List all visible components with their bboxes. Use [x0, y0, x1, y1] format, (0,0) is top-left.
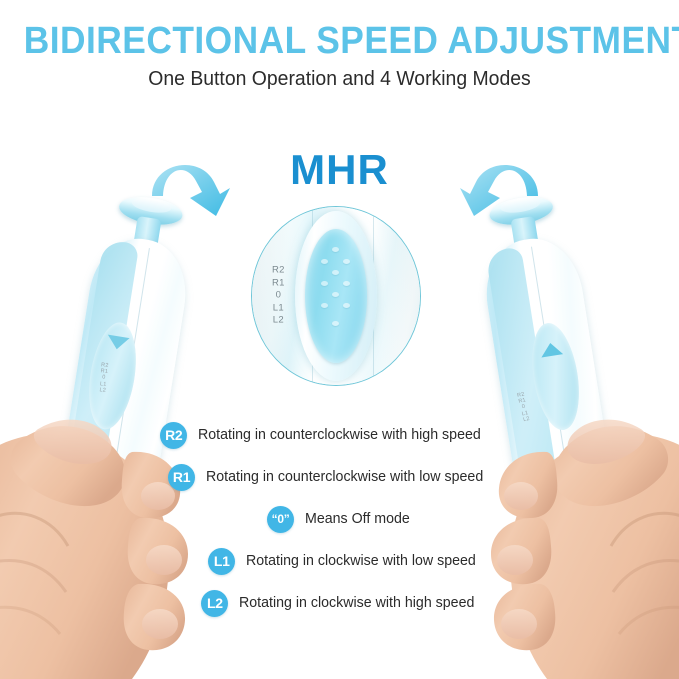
legend-item-r1: R1 Rotating in counterclockwise with low… [0, 456, 679, 498]
slider-down-arrow-icon [106, 335, 130, 351]
legend-label-zero: Means Off mode [305, 511, 410, 527]
badge-l1: L1 [208, 548, 235, 575]
legend-item-l2: L2 Rotating in clockwise with high speed [0, 582, 679, 624]
badge-l2: L2 [201, 590, 228, 617]
legend-label-r2: Rotating in counterclockwise with high s… [198, 427, 481, 443]
infographic-canvas: BIDIRECTIONAL SPEED ADJUSTMENT One Butto… [0, 0, 679, 679]
badge-r2: R2 [160, 422, 187, 449]
legend-item-r2: R2 Rotating in counterclockwise with hig… [0, 414, 679, 456]
switch-position-labels: R2R10L1L2 [272, 265, 285, 328]
page-title: BIDIRECTIONAL SPEED ADJUSTMENT [24, 20, 655, 63]
legend-item-zero: “0” Means Off mode [0, 498, 679, 540]
brand-logo: MHR [0, 146, 679, 194]
legend-label-l1: Rotating in clockwise with low speed [246, 553, 476, 569]
legend-item-l1: L1 Rotating in clockwise with low speed [0, 540, 679, 582]
switch-slider-knob [305, 229, 367, 363]
legend-label-l2: Rotating in clockwise with high speed [239, 595, 474, 611]
switch-detail-magnifier: R2R10L1L2 [251, 206, 421, 386]
legend-label-r1: Rotating in counterclockwise with low sp… [206, 469, 483, 485]
page-subtitle: One Button Operation and 4 Working Modes [10, 68, 669, 91]
slider-up-arrow-icon [539, 341, 563, 357]
badge-r1: R1 [168, 464, 195, 491]
mode-legend: R2 Rotating in counterclockwise with hig… [0, 414, 679, 624]
badge-zero: “0” [267, 506, 294, 533]
